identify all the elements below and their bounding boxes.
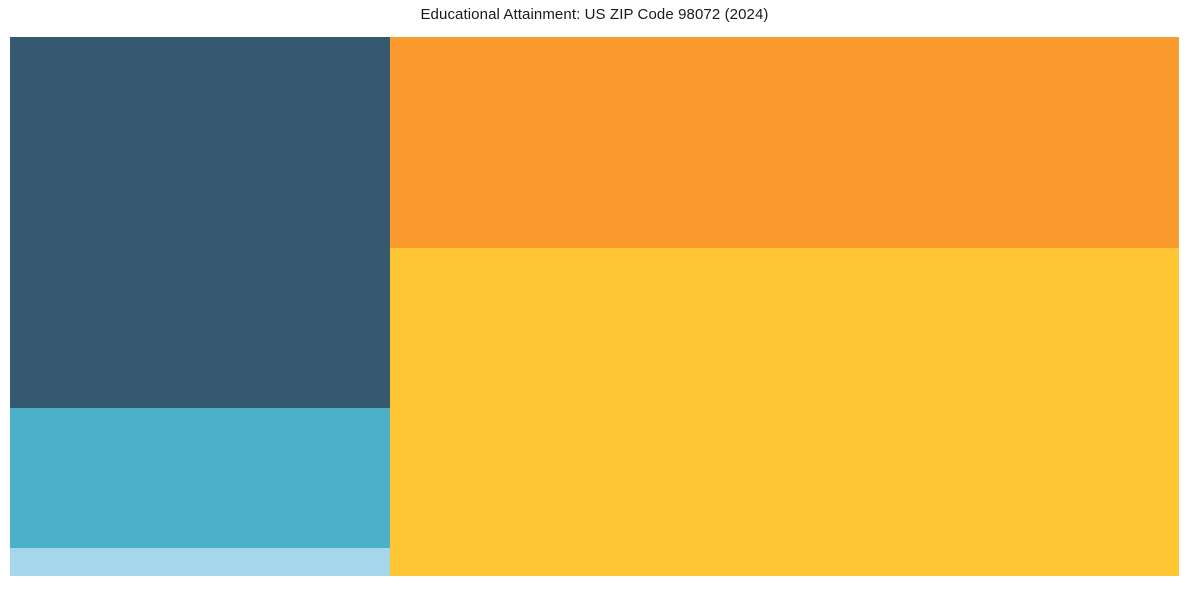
treemap-plot-area: Bachelor's degree Graduate or profession…: [10, 37, 1179, 576]
chart-title: Educational Attainment: US ZIP Code 9807…: [0, 6, 1189, 24]
treemap-tile-high-school-graduate[interactable]: High school graduate: [390, 37, 1179, 248]
treemap-tile-bachelors-degree[interactable]: Bachelor's degree: [10, 37, 390, 408]
chart-figure: Educational Attainment: US ZIP Code 9807…: [0, 0, 1189, 590]
treemap-tile-some-college-or-associate-degree[interactable]: Some college or associate degree: [390, 248, 1179, 576]
treemap-tile-graduate-or-professional-degree[interactable]: Graduate or professional degree: [10, 408, 390, 548]
treemap-tile-less-than-high-school[interactable]: Less than high school: [10, 548, 390, 576]
treemap-column-left: Bachelor's degree Graduate or profession…: [10, 37, 390, 576]
treemap-column-right: High school graduate Some college or ass…: [390, 37, 1179, 576]
